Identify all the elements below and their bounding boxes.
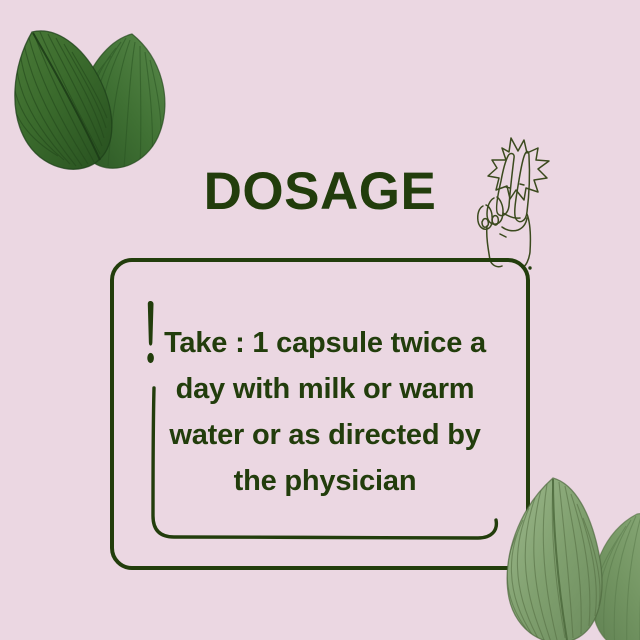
dosage-line-4: the physician bbox=[160, 458, 490, 504]
page-title: DOSAGE bbox=[0, 163, 640, 221]
dosage-poster: DOSAGE bbox=[0, 0, 640, 640]
dosage-line-2: day with milk or warm bbox=[160, 366, 490, 412]
hosta-leaves-top-left bbox=[0, 14, 184, 186]
dosage-line-1: Take : 1 capsule twice a bbox=[160, 320, 490, 366]
dosage-instructions: Take : 1 capsule twice a day with milk o… bbox=[160, 320, 490, 504]
leaf-front bbox=[11, 31, 112, 169]
leaf-br-back bbox=[592, 514, 640, 640]
leaf-back bbox=[77, 34, 165, 168]
dosage-line-3: water or as directed by bbox=[160, 412, 490, 458]
